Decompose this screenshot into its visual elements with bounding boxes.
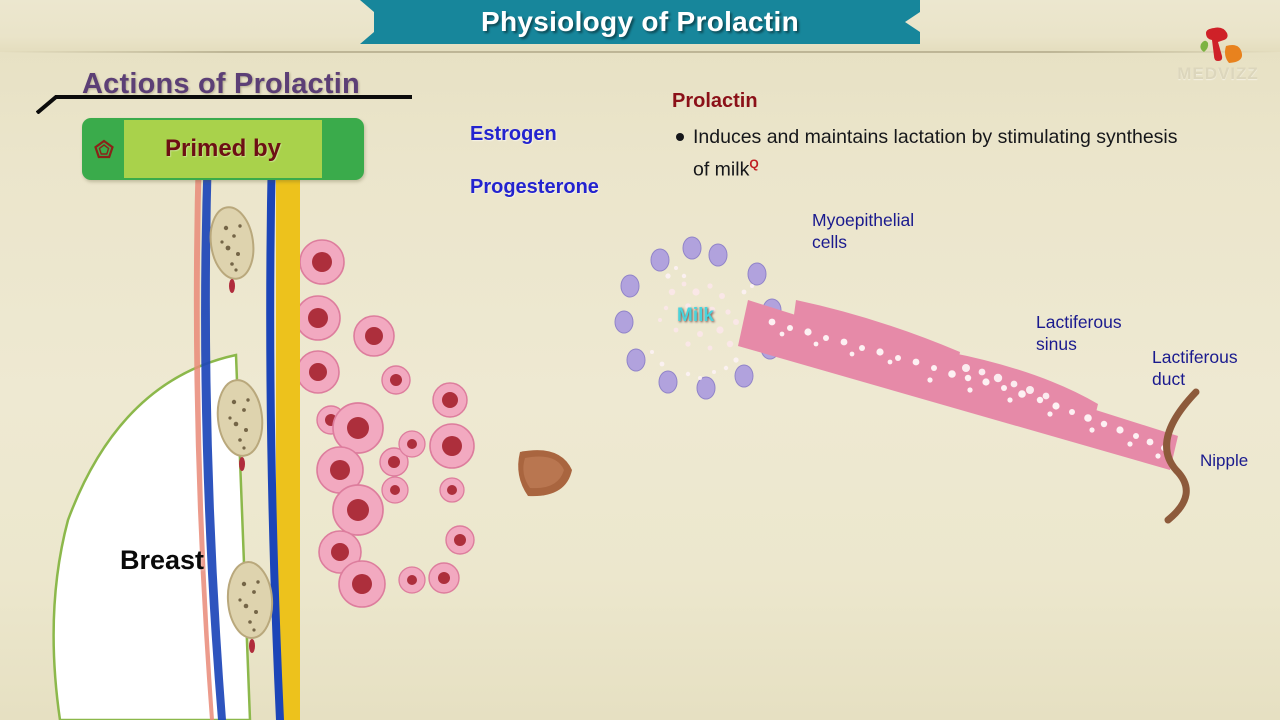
slide-canvas: Physiology of Prolactin MEDVIZZ Actions …	[0, 0, 1280, 720]
label-myoepithelial-line2: cells	[812, 231, 914, 253]
header-band-divider	[0, 51, 1280, 53]
hormone-label-estrogen: Estrogen	[470, 123, 557, 146]
page-title: Physiology of Prolactin	[481, 6, 799, 38]
label-sinus-line2: sinus	[1036, 333, 1122, 355]
prolactin-bullet-item: Induces and maintains lactation by stimu…	[676, 124, 1196, 184]
logo-wordmark: MEDVIZZ	[1168, 64, 1268, 84]
title-banner-text-wrap: Physiology of Prolactin	[360, 0, 920, 44]
brand-logo[interactable]: MEDVIZZ	[1168, 24, 1268, 86]
hormone-label-progesterone: Progesterone	[470, 176, 599, 199]
bullet-dot-icon	[676, 133, 684, 141]
label-milk: Milk	[677, 305, 714, 327]
label-breast: Breast	[120, 549, 204, 571]
label-lactiferous-duct: Lactiferous duct	[1152, 346, 1238, 390]
section-underline	[36, 92, 412, 114]
question-marker: Q	[749, 157, 758, 171]
arrow-right-icon	[404, 178, 460, 198]
label-myoepithelial-cells: Myoepithelial cells	[812, 209, 914, 253]
label-duct-line1: Lactiferous	[1152, 346, 1238, 368]
hormone-row-estrogen: Estrogen	[404, 123, 557, 146]
label-sinus-line1: Lactiferous	[1036, 311, 1122, 333]
arrow-right-icon	[404, 125, 460, 145]
primed-by-inner-panel: Primed by	[124, 120, 322, 178]
pentagon-icon	[94, 139, 114, 159]
primed-by-box[interactable]: Primed by	[82, 118, 364, 180]
label-lactiferous-sinus: Lactiferous sinus	[1036, 311, 1122, 355]
prolactin-heading: Prolactin	[672, 90, 758, 113]
label-nipple: Nipple	[1200, 450, 1248, 472]
lobules	[296, 240, 474, 607]
medvizz-mark-icon	[1168, 24, 1268, 68]
primed-by-label: Primed by	[165, 135, 281, 163]
prolactin-bullet-text: Induces and maintains lactation by stimu…	[693, 126, 1178, 181]
label-duct-line2: duct	[1152, 368, 1238, 390]
chest-wall	[194, 150, 300, 720]
label-myoepithelial-line1: Myoepithelial	[812, 209, 914, 231]
prolactin-bullet-wrap: Induces and maintains lactation by stimu…	[693, 124, 1196, 184]
alveolus-diagram	[615, 237, 1196, 520]
hormone-row-progesterone: Progesterone	[404, 176, 599, 199]
